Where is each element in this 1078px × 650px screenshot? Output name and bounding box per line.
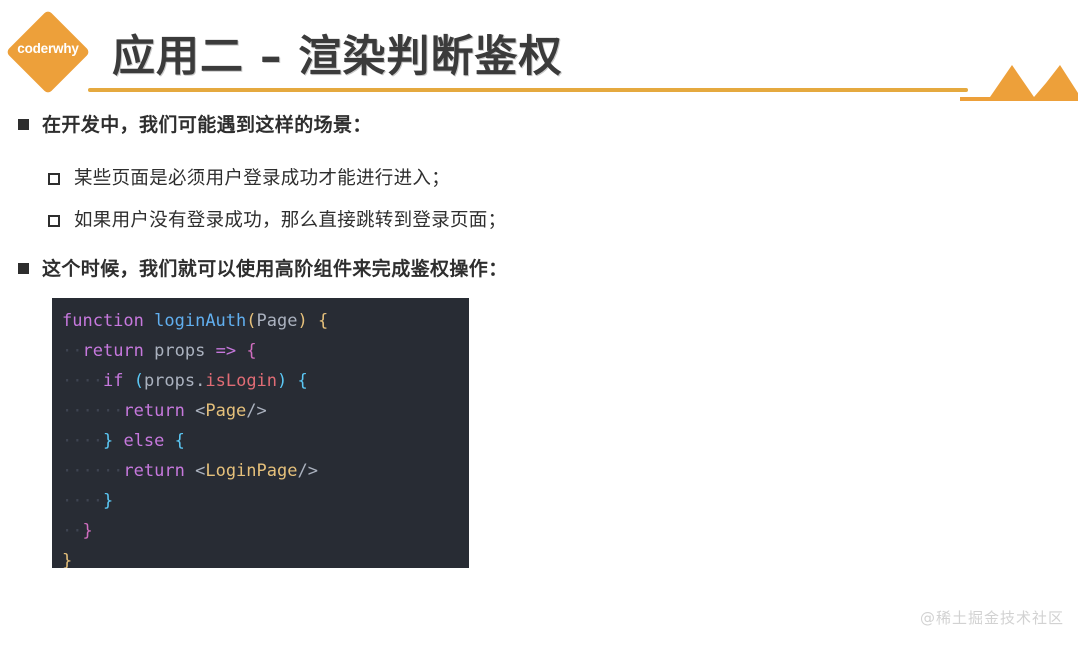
code-token: props bbox=[154, 341, 205, 361]
code-token: function bbox=[62, 311, 144, 331]
slide-header: coderwhy 应用二 – 渲染判断鉴权 bbox=[0, 0, 1078, 100]
indent-guide: ······ bbox=[62, 461, 123, 481]
mountain-decoration-icon bbox=[960, 55, 1078, 101]
code-token: } bbox=[82, 521, 92, 541]
code-token: { bbox=[318, 311, 328, 331]
code-token bbox=[123, 371, 133, 391]
code-token bbox=[236, 341, 246, 361]
code-token bbox=[164, 431, 174, 451]
indent-guide: ···· bbox=[62, 431, 103, 451]
code-token bbox=[185, 461, 195, 481]
code-token: isLogin bbox=[205, 371, 277, 391]
bullet-item-4: 这个时候，我们就可以使用高阶组件来完成鉴权操作： bbox=[18, 254, 1078, 284]
hollow-square-bullet-icon bbox=[48, 173, 60, 185]
code-line: ····} bbox=[52, 486, 469, 516]
indent-guide: ···· bbox=[62, 371, 103, 391]
code-line: ····if (props.isLogin) { bbox=[52, 366, 469, 396]
code-token: < bbox=[195, 401, 205, 421]
code-token bbox=[185, 401, 195, 421]
bullet-item-2-label: 某些页面是必须用户登录成功才能进行进入； bbox=[74, 168, 450, 189]
code-token: Page bbox=[205, 401, 246, 421]
indent-guide: ···· bbox=[62, 491, 103, 511]
code-token: /> bbox=[246, 401, 266, 421]
code-token: else bbox=[123, 431, 164, 451]
code-token: Page bbox=[257, 311, 298, 331]
code-token: ) bbox=[297, 311, 307, 331]
code-token: } bbox=[62, 551, 72, 568]
code-line: ······return <LoginPage/> bbox=[52, 456, 469, 486]
code-token bbox=[308, 311, 318, 331]
code-token: if bbox=[103, 371, 123, 391]
bullet-item-1: 在开发中，我们可能遇到这样的场景： bbox=[18, 110, 1078, 140]
bullet-item-3-label: 如果用户没有登录成功，那么直接跳转到登录页面； bbox=[74, 210, 506, 231]
code-token: . bbox=[195, 371, 205, 391]
code-line: } bbox=[52, 546, 469, 568]
code-token: props bbox=[144, 371, 195, 391]
code-token bbox=[287, 371, 297, 391]
code-token: { bbox=[246, 341, 256, 361]
code-token: return bbox=[123, 461, 184, 481]
hollow-square-bullet-icon bbox=[48, 215, 60, 227]
coderwhy-logo: coderwhy bbox=[9, 13, 87, 91]
code-snippet-block[interactable]: function loginAuth(Page) {··return props… bbox=[52, 298, 469, 568]
code-token: /> bbox=[297, 461, 317, 481]
code-line: ······return <Page/> bbox=[52, 396, 469, 426]
bullet-item-3: 如果用户没有登录成功，那么直接跳转到登录页面； bbox=[48, 206, 1078, 236]
title-divider bbox=[88, 88, 968, 92]
code-token: { bbox=[175, 431, 185, 451]
code-line: function loginAuth(Page) { bbox=[52, 306, 469, 336]
code-line: ··return props => { bbox=[52, 336, 469, 366]
code-token: ( bbox=[246, 311, 256, 331]
page-title: 应用二 – 渲染判断鉴权 bbox=[112, 22, 562, 84]
code-line: ····} else { bbox=[52, 426, 469, 456]
code-token: { bbox=[298, 371, 308, 391]
code-token: => bbox=[216, 341, 236, 361]
spacer bbox=[0, 236, 1078, 254]
slide-content: 在开发中，我们可能遇到这样的场景： 某些页面是必须用户登录成功才能进行进入； 如… bbox=[0, 110, 1078, 284]
code-token: LoginPage bbox=[205, 461, 297, 481]
code-line: ··} bbox=[52, 516, 469, 546]
code-token bbox=[144, 341, 154, 361]
logo-label: coderwhy bbox=[9, 41, 87, 56]
code-token bbox=[205, 341, 215, 361]
spacer bbox=[0, 140, 1078, 164]
code-token: < bbox=[195, 461, 205, 481]
indent-guide: ·· bbox=[62, 341, 82, 361]
filled-square-bullet-icon bbox=[18, 119, 29, 130]
filled-square-bullet-icon bbox=[18, 263, 29, 274]
code-token bbox=[113, 431, 123, 451]
code-token bbox=[144, 311, 154, 331]
watermark: @稀土掘金技术社区 bbox=[920, 607, 1064, 628]
code-token: return bbox=[123, 401, 184, 421]
code-token: loginAuth bbox=[154, 311, 246, 331]
bullet-item-2: 某些页面是必须用户登录成功才能进行进入； bbox=[48, 164, 1078, 194]
indent-guide: ······ bbox=[62, 401, 123, 421]
code-token: ) bbox=[277, 371, 287, 391]
bullet-item-4-label: 这个时候，我们就可以使用高阶组件来完成鉴权操作： bbox=[42, 258, 508, 280]
spacer bbox=[0, 194, 1078, 206]
code-token: ( bbox=[134, 371, 144, 391]
code-token: } bbox=[103, 431, 113, 451]
bullet-item-1-label: 在开发中，我们可能遇到这样的场景： bbox=[42, 114, 372, 136]
code-token: return bbox=[82, 341, 143, 361]
indent-guide: ·· bbox=[62, 521, 82, 541]
code-token: } bbox=[103, 491, 113, 511]
